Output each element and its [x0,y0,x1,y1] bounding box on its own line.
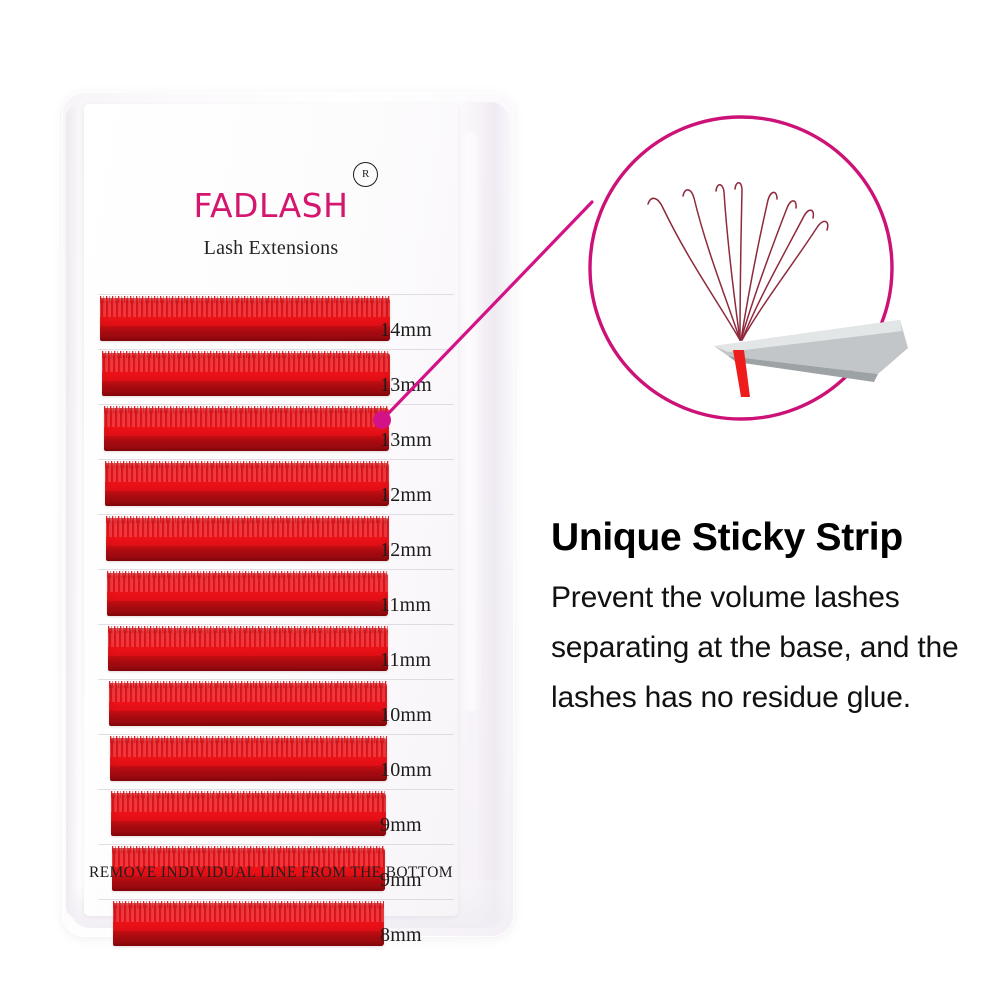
lash-strip [104,408,389,451]
row-divider [98,569,454,570]
lash-size-label: 12mm [380,539,456,562]
brand-tagline: Lash Extensions [84,237,458,260]
marketing-line: lashes has no residue glue. [551,673,971,723]
row-divider [98,514,454,515]
lash-strip [105,463,389,506]
tray-edge-left [66,106,80,918]
lash-row: 12mm [84,458,458,513]
lash-size-label: 11mm [380,594,456,617]
lash-size-label: 10mm [380,759,456,782]
lash-size-label: 10mm [380,704,456,727]
lash-strip [110,738,387,781]
marketing-line: Prevent the volume lashes [551,573,971,623]
lash-row: 9mm [84,788,458,843]
row-divider [98,294,454,295]
lash-strip [108,628,388,671]
brand-block: Fadlash R Lash Extensions [84,178,458,260]
lash-row: 11mm [84,623,458,678]
magnifier-callout [578,112,908,424]
marketing-line: separating at the base, and the [551,623,971,673]
lash-strip [109,683,387,726]
tray-gloss-highlight [460,132,482,712]
lash-size-label: 8mm [380,924,456,947]
row-divider [98,679,454,680]
row-divider [98,899,454,900]
lash-size-label: 14mm [380,319,456,342]
lash-size-label: 12mm [380,484,456,507]
row-divider [98,734,454,735]
lash-row: 12mm [84,513,458,568]
lash-size-label: 13mm [380,374,456,397]
marketing-body: Prevent the volume lashesseparating at t… [551,573,971,723]
lash-row: 10mm [84,678,458,733]
marketing-heading: Unique Sticky Strip [551,518,971,559]
tray-footnote: REMOVE INDIVIDUAL LINE FROM THE BOTTOM [84,864,458,882]
lash-size-label: 13mm [380,429,456,452]
lash-row: 13mm [84,348,458,403]
marketing-copy: Unique Sticky Strip Prevent the volume l… [551,518,971,723]
product-tray: Fadlash R Lash Extensions 14mm13mm13mm12… [62,92,514,937]
lash-row: 14mm [84,293,458,348]
row-divider [98,789,454,790]
lash-strip [106,518,389,561]
tray-insert-card: Fadlash R Lash Extensions 14mm13mm13mm12… [84,104,458,916]
row-divider [98,624,454,625]
lash-row: 10mm [84,733,458,788]
row-divider [98,349,454,350]
registered-trademark-icon: R [353,162,378,187]
lash-strip [111,793,386,836]
brand-name-text: Fadlash [194,174,349,229]
lash-strip [107,573,388,616]
lash-strip [113,903,384,946]
lash-size-label: 11mm [380,649,456,672]
lash-row: 11mm [84,568,458,623]
row-divider [98,459,454,460]
lash-strip [100,298,390,341]
lash-row: 13mm [84,403,458,458]
brand-logo: Fadlash R [194,178,349,225]
row-divider [98,404,454,405]
lash-row: 8mm [84,898,458,953]
lash-row-list: 14mm13mm13mm12mm12mm11mm11mm10mm10mm9mm9… [84,293,458,953]
lash-size-label: 9mm [380,814,456,837]
row-divider [98,844,454,845]
lash-strip [102,353,390,396]
